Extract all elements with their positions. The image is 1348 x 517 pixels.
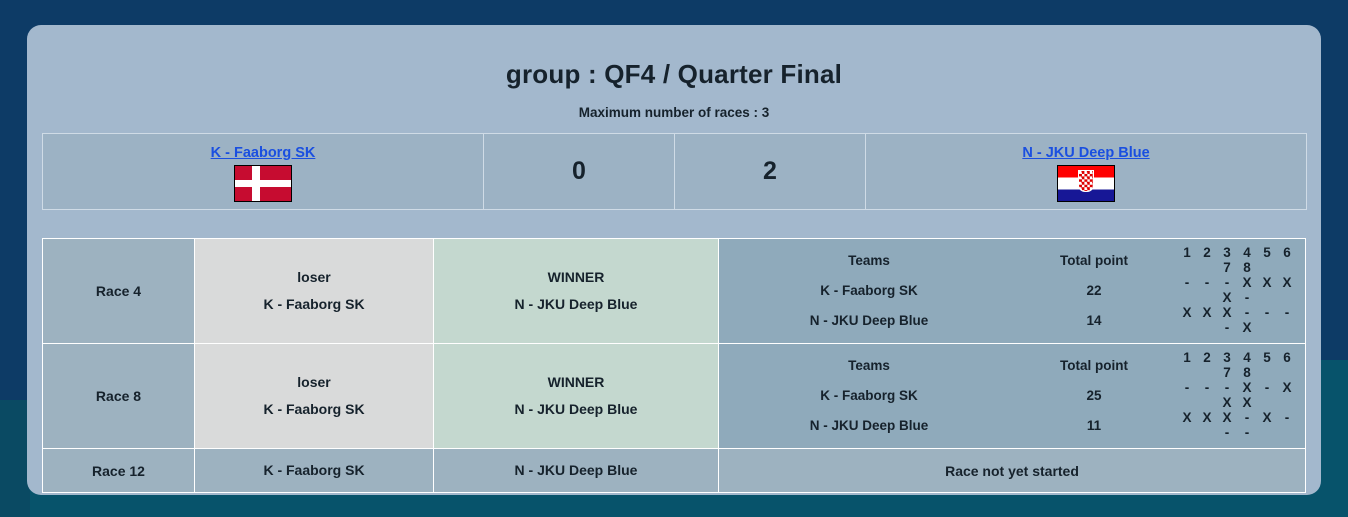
loser-tag: loser bbox=[195, 264, 433, 291]
team-left-link[interactable]: K - Faaborg SK bbox=[43, 145, 483, 161]
race-label: Race 8 bbox=[43, 344, 195, 449]
mark-4: X bbox=[1237, 275, 1257, 290]
mark-4: X bbox=[1237, 380, 1257, 395]
max-races-subtitle: Maximum number of races : 3 bbox=[27, 90, 1321, 120]
race-detail-cell: Teams Total point 12345678 K - Faaborg S… bbox=[719, 344, 1306, 449]
denmark-flag-icon bbox=[234, 165, 292, 202]
score-right: 2 bbox=[675, 134, 866, 210]
croatia-shield-icon bbox=[1078, 170, 1094, 192]
mark-1: - bbox=[1177, 275, 1197, 290]
col-header-8: 8 bbox=[1237, 365, 1257, 380]
detail-total-point-label: Total point bbox=[1019, 245, 1169, 275]
mark-2: X bbox=[1197, 410, 1217, 425]
col-header-5: 5 bbox=[1257, 350, 1277, 365]
detail-total-point-label: Total point bbox=[1019, 350, 1169, 380]
page-left-band bbox=[0, 400, 30, 517]
detail-team-marks: XXX----X bbox=[1169, 305, 1305, 335]
mark-6: - bbox=[1277, 305, 1297, 320]
mark-5: - bbox=[1257, 305, 1277, 320]
page-right-band bbox=[1318, 360, 1348, 517]
col-header-3: 3 bbox=[1217, 245, 1237, 260]
detail-team-row: K - Faaborg SK 22 ---XXXX- bbox=[719, 275, 1305, 305]
team-right-cell: N - JKU Deep Blue bbox=[866, 134, 1307, 210]
detail-team-name: N - JKU Deep Blue bbox=[719, 410, 1019, 440]
race-loser-cell: loser K - Faaborg SK bbox=[195, 239, 434, 344]
race-label: Race 4 bbox=[43, 239, 195, 344]
race-right-team: N - JKU Deep Blue bbox=[434, 449, 719, 493]
col-header-6: 6 bbox=[1277, 245, 1297, 260]
mark-2: - bbox=[1197, 275, 1217, 290]
detail-team-marks: XXX-X--- bbox=[1169, 410, 1305, 440]
race-winner-cell: WINNER N - JKU Deep Blue bbox=[434, 239, 719, 344]
mark-1: - bbox=[1177, 380, 1197, 395]
race-left-team: K - Faaborg SK bbox=[195, 449, 434, 493]
loser-team: K - Faaborg SK bbox=[195, 396, 433, 423]
mark-5: X bbox=[1257, 275, 1277, 290]
col-header-7: 7 bbox=[1217, 260, 1237, 275]
race-loser-cell: loser K - Faaborg SK bbox=[195, 344, 434, 449]
page-title: group : QF4 / Quarter Final bbox=[27, 25, 1321, 90]
table-row: Race 4 loser K - Faaborg SK WINNER N - J… bbox=[43, 239, 1306, 344]
col-header-4: 4 bbox=[1237, 350, 1257, 365]
detail-team-points: 22 bbox=[1019, 275, 1169, 305]
loser-team: K - Faaborg SK bbox=[195, 291, 433, 318]
mark-8: - bbox=[1237, 290, 1257, 305]
team-left-cell: K - Faaborg SK bbox=[43, 134, 484, 210]
col-header-1: 1 bbox=[1177, 350, 1197, 365]
mark-3: - bbox=[1217, 275, 1237, 290]
mark-1: X bbox=[1177, 305, 1197, 320]
race-status: Race not yet started bbox=[719, 449, 1306, 493]
races-table-body: Race 4 loser K - Faaborg SK WINNER N - J… bbox=[43, 239, 1306, 493]
mark-5: X bbox=[1257, 410, 1277, 425]
race-detail-table: Teams Total point 12345678 K - Faaborg S… bbox=[719, 350, 1305, 440]
detail-team-row: N - JKU Deep Blue 14 XXX----X bbox=[719, 305, 1305, 335]
mark-7: - bbox=[1217, 425, 1237, 440]
mark-2: - bbox=[1197, 380, 1217, 395]
mark-5: - bbox=[1257, 380, 1277, 395]
winner-tag: WINNER bbox=[434, 264, 718, 291]
detail-columns-header: 12345678 bbox=[1169, 245, 1305, 275]
col-header-1: 1 bbox=[1177, 245, 1197, 260]
mark-7: X bbox=[1217, 395, 1237, 410]
race-detail-table: Teams Total point 12345678 K - Faaborg S… bbox=[719, 245, 1305, 335]
detail-team-marks: ---X-XXX bbox=[1169, 380, 1305, 410]
team-right-link[interactable]: N - JKU Deep Blue bbox=[866, 145, 1306, 161]
race-winner-cell: WINNER N - JKU Deep Blue bbox=[434, 344, 719, 449]
detail-team-row: K - Faaborg SK 25 ---X-XXX bbox=[719, 380, 1305, 410]
loser-tag: loser bbox=[195, 369, 433, 396]
detail-header-row: Teams Total point 12345678 bbox=[719, 245, 1305, 275]
mark-1: X bbox=[1177, 410, 1197, 425]
mark-8: X bbox=[1237, 320, 1257, 335]
detail-team-name: K - Faaborg SK bbox=[719, 380, 1019, 410]
detail-header-row: Teams Total point 12345678 bbox=[719, 350, 1305, 380]
table-row: Race 12 K - Faaborg SK N - JKU Deep Blue… bbox=[43, 449, 1306, 493]
detail-team-points: 11 bbox=[1019, 410, 1169, 440]
group-panel: group : QF4 / Quarter Final Maximum numb… bbox=[27, 25, 1321, 495]
col-header-6: 6 bbox=[1277, 350, 1297, 365]
detail-teams-label: Teams bbox=[719, 245, 1019, 275]
detail-team-row: N - JKU Deep Blue 11 XXX-X--- bbox=[719, 410, 1305, 440]
col-header-3: 3 bbox=[1217, 350, 1237, 365]
col-header-7: 7 bbox=[1217, 365, 1237, 380]
mark-6: X bbox=[1277, 275, 1297, 290]
mark-3: - bbox=[1217, 380, 1237, 395]
mark-7: - bbox=[1217, 320, 1237, 335]
detail-teams-label: Teams bbox=[719, 350, 1019, 380]
score-left: 0 bbox=[484, 134, 675, 210]
winner-team: N - JKU Deep Blue bbox=[434, 291, 718, 318]
detail-team-name: N - JKU Deep Blue bbox=[719, 305, 1019, 335]
detail-team-marks: ---XXXX- bbox=[1169, 275, 1305, 305]
mark-6: X bbox=[1277, 380, 1297, 395]
mark-2: X bbox=[1197, 305, 1217, 320]
race-label: Race 12 bbox=[43, 449, 195, 493]
table-row: Race 8 loser K - Faaborg SK WINNER N - J… bbox=[43, 344, 1306, 449]
winner-team: N - JKU Deep Blue bbox=[434, 396, 718, 423]
col-header-5: 5 bbox=[1257, 245, 1277, 260]
mark-3: X bbox=[1217, 305, 1237, 320]
match-summary-row: K - Faaborg SK 0 2 N - JKU Deep Blue bbox=[43, 134, 1307, 210]
detail-team-points: 25 bbox=[1019, 380, 1169, 410]
mark-7: X bbox=[1217, 290, 1237, 305]
mark-6: - bbox=[1277, 410, 1297, 425]
col-header-4: 4 bbox=[1237, 245, 1257, 260]
mark-8: X bbox=[1237, 395, 1257, 410]
mark-4: - bbox=[1237, 305, 1257, 320]
races-table: Race 4 loser K - Faaborg SK WINNER N - J… bbox=[42, 238, 1306, 493]
col-header-8: 8 bbox=[1237, 260, 1257, 275]
winner-tag: WINNER bbox=[434, 369, 718, 396]
croatia-flag-icon bbox=[1057, 165, 1115, 202]
mark-8: - bbox=[1237, 425, 1257, 440]
col-header-2: 2 bbox=[1197, 350, 1217, 365]
detail-team-name: K - Faaborg SK bbox=[719, 275, 1019, 305]
race-detail-cell: Teams Total point 12345678 K - Faaborg S… bbox=[719, 239, 1306, 344]
mark-3: X bbox=[1217, 410, 1237, 425]
detail-columns-header: 12345678 bbox=[1169, 350, 1305, 380]
col-header-2: 2 bbox=[1197, 245, 1217, 260]
detail-team-points: 14 bbox=[1019, 305, 1169, 335]
match-summary-table: K - Faaborg SK 0 2 N - JKU Deep Blue bbox=[42, 133, 1307, 210]
mark-4: - bbox=[1237, 410, 1257, 425]
